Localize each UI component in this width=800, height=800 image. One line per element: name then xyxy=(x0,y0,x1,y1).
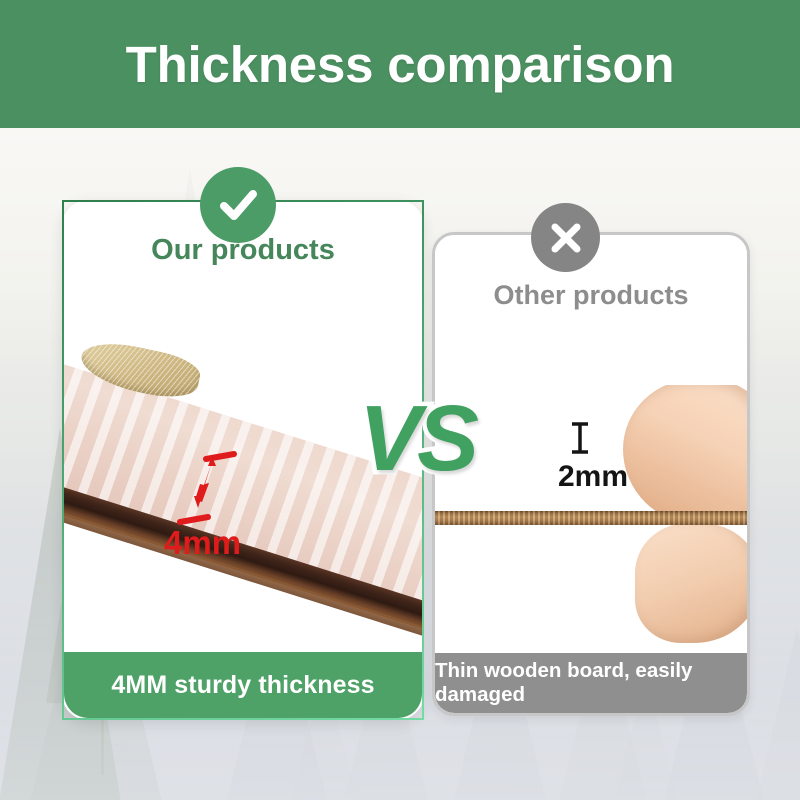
measurement-2mm: 2mm xyxy=(560,420,670,510)
finger-lower xyxy=(635,523,747,643)
check-circle-icon xyxy=(200,167,276,243)
measurement-ibeam-2mm-icon xyxy=(560,420,600,460)
header-bar: Thickness comparison xyxy=(0,0,800,128)
x-circle-icon xyxy=(531,203,600,272)
measurement-2mm-label: 2mm xyxy=(558,460,628,494)
card-right-heading: Other products xyxy=(435,280,747,311)
vs-badge: VS xyxy=(359,392,475,485)
comparison-infographic: Thickness comparison Our products 4MM st… xyxy=(0,0,800,800)
page-title: Thickness comparison xyxy=(0,0,800,128)
card-right-caption: Thin wooden board, easily damaged xyxy=(435,653,747,713)
thin-wood-strip xyxy=(435,511,747,525)
measurement-4mm-label: 4mm xyxy=(164,524,241,562)
measurement-4mm: 4mm xyxy=(150,440,270,570)
strip-grain-texture xyxy=(435,511,747,525)
card-left-caption: 4MM sturdy thickness xyxy=(64,652,422,718)
